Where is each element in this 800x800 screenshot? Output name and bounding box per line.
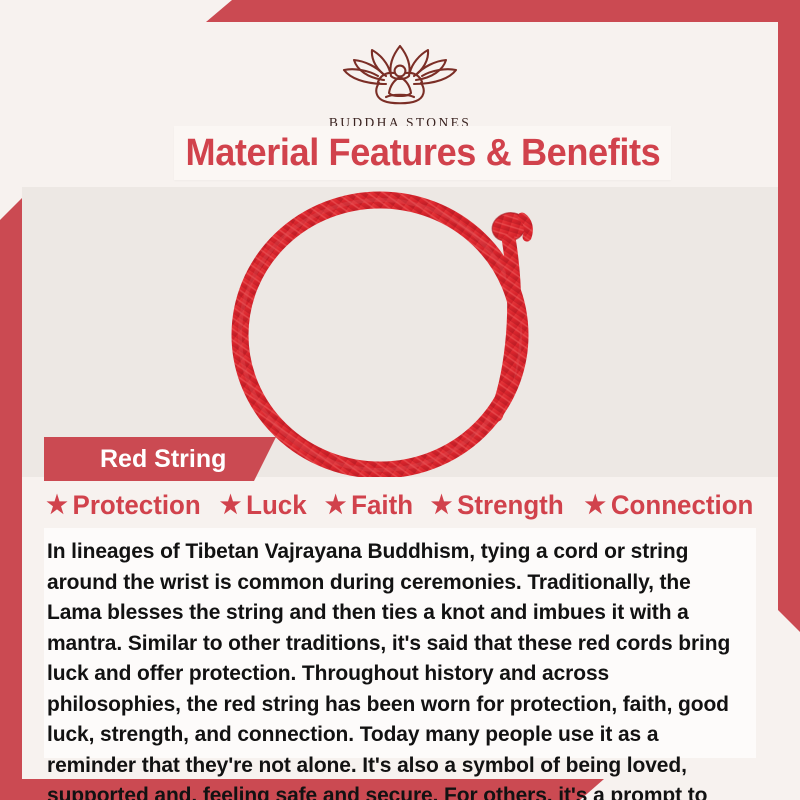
star-icon: ★ [431, 493, 453, 518]
benefits-list: ★ Protection ★ Luck ★ Faith ★ Strength ★… [44, 484, 756, 526]
lotus-meditation-icon [324, 40, 476, 112]
decorative-band-top [206, 0, 800, 22]
benefit-item-faith: ★ Faith [318, 490, 420, 521]
description-text: In lineages of Tibetan Vajrayana Buddhis… [47, 536, 734, 800]
benefit-item-luck: ★ Luck [213, 490, 313, 521]
infographic-poster: BUDDHA STONES Material Features & Benefi… [0, 0, 800, 800]
product-photo [22, 187, 778, 477]
star-icon: ★ [46, 493, 68, 518]
benefit-label: Connection [611, 490, 754, 521]
decorative-band-left [0, 198, 22, 800]
benefit-label: Strength [458, 490, 565, 521]
benefit-label: Protection [73, 490, 201, 521]
poster-surface: BUDDHA STONES Material Features & Benefi… [22, 22, 778, 779]
brand-logo: BUDDHA STONES [22, 40, 778, 131]
star-icon: ★ [584, 493, 606, 518]
benefit-item-connection: ★ Connection [578, 490, 760, 521]
benefit-item-strength: ★ Strength [425, 490, 571, 521]
benefit-item-protection: ★ Protection [40, 490, 208, 521]
star-icon: ★ [324, 493, 346, 518]
description-block: In lineages of Tibetan Vajrayana Buddhis… [44, 528, 756, 758]
page-title: Material Features & Benefits [185, 132, 660, 175]
benefit-label: Faith [351, 490, 413, 521]
benefit-label: Luck [246, 490, 307, 521]
red-braided-string-bracelet-photo [22, 187, 778, 477]
title-banner: Material Features & Benefits [174, 126, 671, 180]
ribbon-label: Red String [100, 445, 226, 474]
decorative-band-right [778, 0, 800, 632]
star-icon: ★ [220, 493, 242, 518]
section-ribbon-red-string: Red String [44, 437, 276, 481]
